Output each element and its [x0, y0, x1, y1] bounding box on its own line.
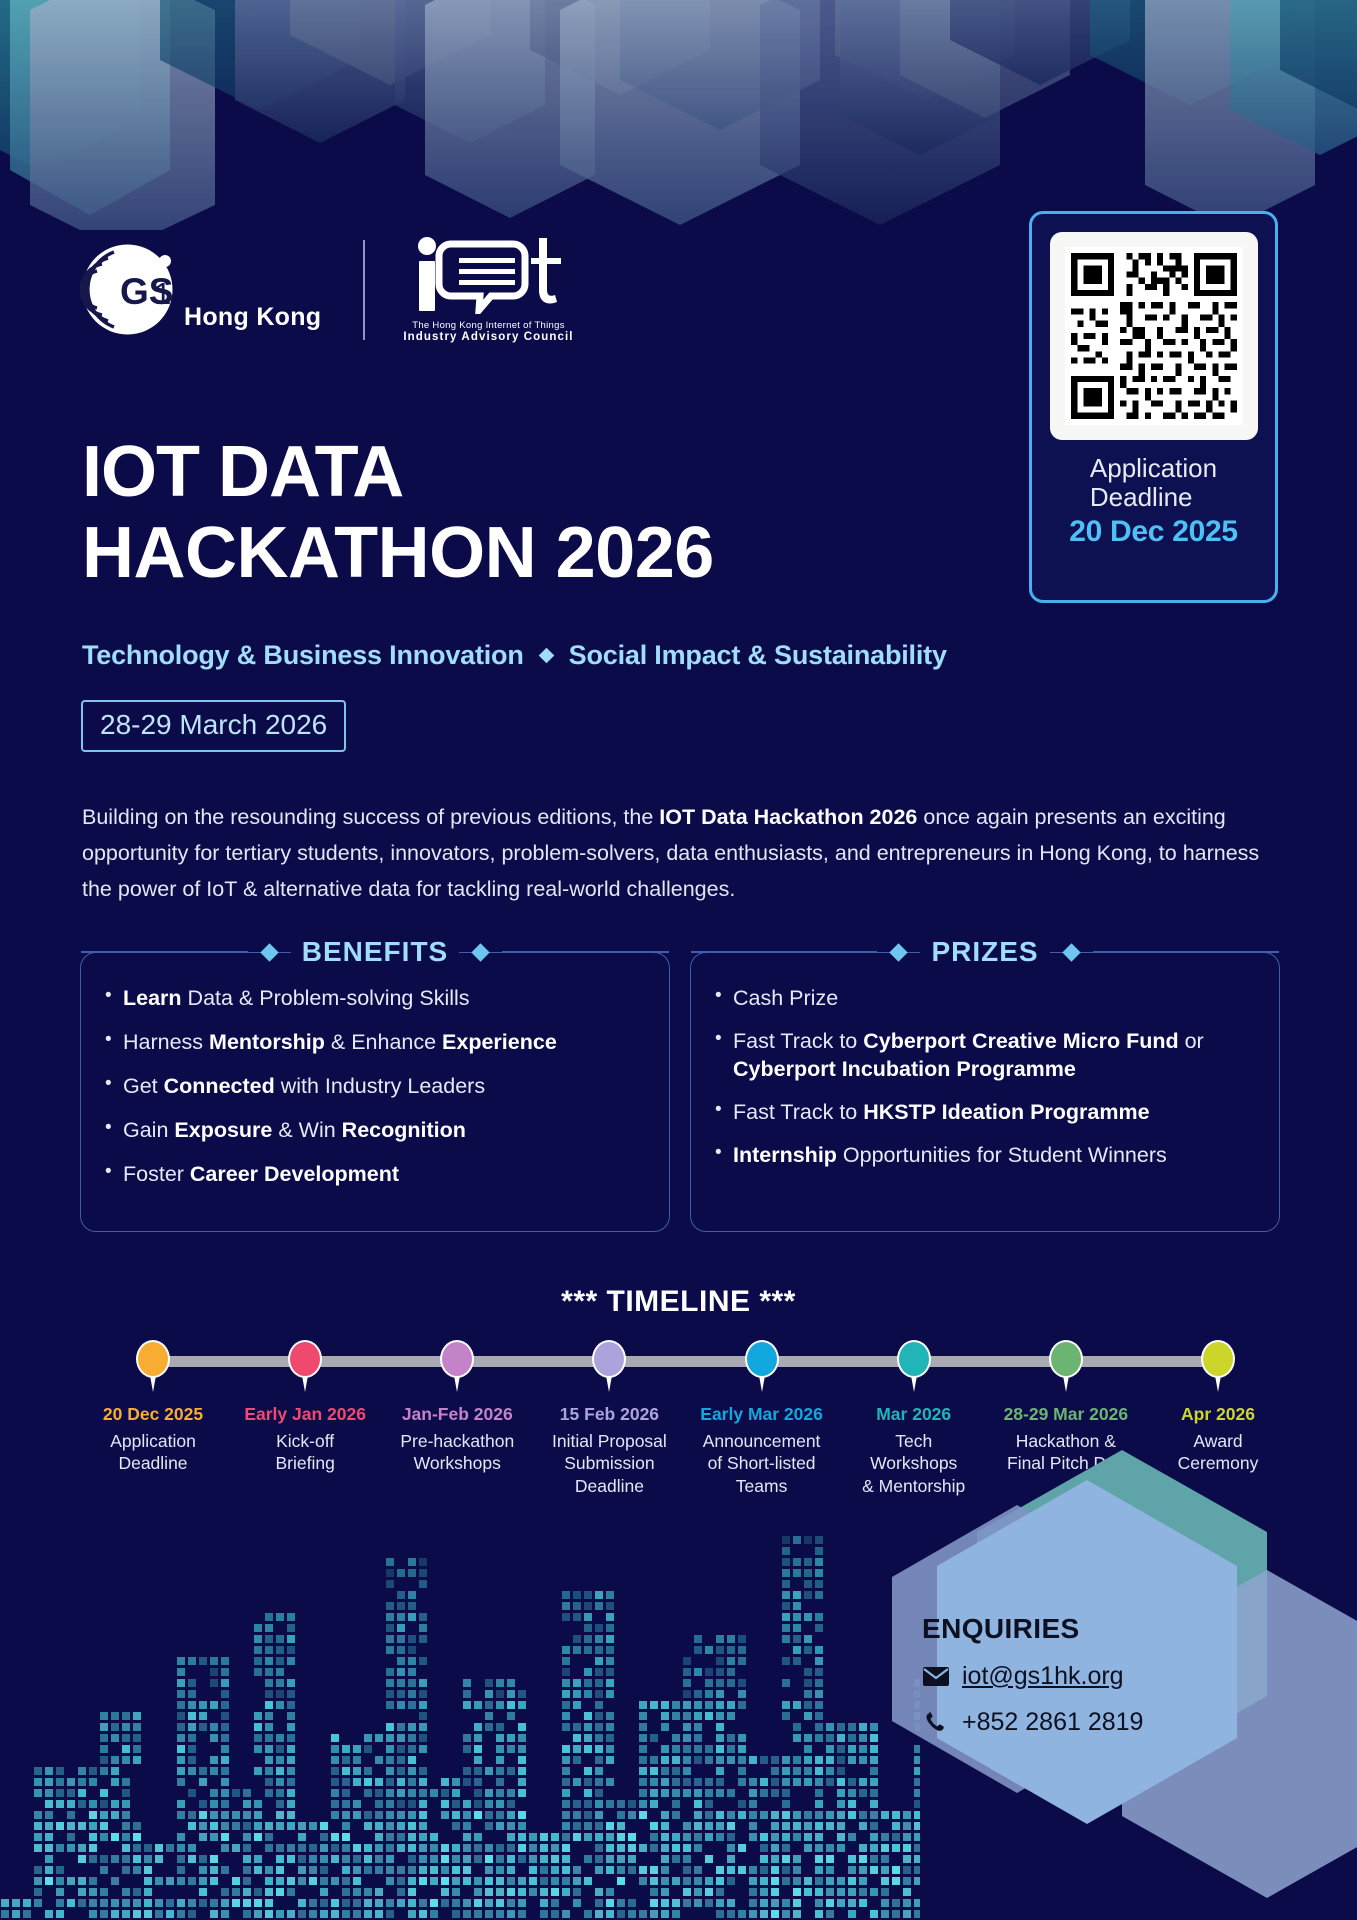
prizes-list: Cash Prize Fast Track to Cyberport Creat…: [715, 985, 1255, 1170]
title-line-1: IOT DATA: [82, 432, 714, 513]
qr-code-icon[interactable]: [1050, 232, 1258, 440]
timeline-milestone-date: Early Mar 2026: [687, 1404, 837, 1425]
list-item: Foster Career Development: [105, 1161, 645, 1189]
top-hex-background: [0, 0, 1357, 230]
diamond-icon-left: [890, 943, 908, 961]
enquiries-phone-row: +852 2861 2819: [922, 1708, 1202, 1737]
intro-part-1: Building on the resounding success of pr…: [82, 805, 659, 829]
timeline-milestone: Jan-Feb 2026Pre-hackathonWorkshops: [382, 1340, 532, 1475]
qr-deadline-date: 20 Dec 2025: [1069, 515, 1238, 549]
timeline-milestone-description: Announcementof Short-listedTeams: [687, 1430, 837, 1497]
timeline-milestone-description: Kick-offBriefing: [230, 1430, 380, 1475]
page-title: IOT DATA HACKATHON 2026: [82, 432, 714, 593]
subtitle-right: Social Impact & Sustainability: [569, 640, 947, 671]
timeline-milestone-date: Jan-Feb 2026: [382, 1404, 532, 1425]
timeline-pin-icon: [288, 1340, 322, 1392]
timeline-milestone-date: 28-29 Mar 2026: [991, 1404, 1141, 1425]
title-line-2: HACKATHON 2026: [82, 513, 714, 594]
timeline-milestone: 20 Dec 2025ApplicationDeadline: [78, 1340, 228, 1475]
subtitle: Technology & Business Innovation Social …: [82, 640, 947, 671]
event-date-badge: 28-29 March 2026: [81, 700, 346, 752]
list-item: Learn Data & Problem-solving Skills: [105, 985, 645, 1013]
timeline-milestone: 15 Feb 2026Initial ProposalSubmissionDea…: [534, 1340, 684, 1497]
timeline-milestone-description: Pre-hackathonWorkshops: [382, 1430, 532, 1475]
timeline-pin-icon: [897, 1340, 931, 1392]
iot-logo-sub1: The Hong Kong Internet of Things: [412, 320, 565, 331]
city-skyline-graphic: [0, 1500, 920, 1920]
qr-deadline-label-line1: Application: [1090, 454, 1217, 483]
list-item: Internship Opportunities for Student Win…: [715, 1142, 1255, 1170]
list-item: Gain Exposure & Win Recognition: [105, 1117, 645, 1145]
prizes-heading: PRIZES: [920, 936, 1049, 968]
enquiries-hexagons: ENQUIRIES iot@gs1hk.org +852 2861 2819: [837, 1450, 1357, 1920]
header-rule-left: [81, 951, 248, 953]
phone-icon: [922, 1711, 949, 1735]
prizes-card-header: PRIZES: [691, 936, 1279, 968]
logo-bar: GS 1 ® Hong Kong: [80, 236, 574, 343]
enquiries-email-link[interactable]: iot@gs1hk.org: [962, 1662, 1124, 1691]
subtitle-left: Technology & Business Innovation: [82, 640, 524, 671]
enquiries-block: ENQUIRIES iot@gs1hk.org +852 2861 2819: [922, 1613, 1202, 1737]
benefits-list: Learn Data & Problem-solving Skills Harn…: [105, 985, 645, 1189]
intro-bold-1: IOT Data Hackathon 2026: [659, 805, 917, 829]
timeline-milestone-description: ApplicationDeadline: [78, 1430, 228, 1475]
timeline-milestone-date: 20 Dec 2025: [78, 1404, 228, 1425]
diamond-separator-icon: [538, 648, 554, 664]
timeline-pin-icon: [136, 1340, 170, 1392]
iot-logo: The Hong Kong Internet of Things Industr…: [403, 236, 573, 343]
svg-text:®: ®: [161, 257, 169, 268]
svg-text:1: 1: [154, 276, 171, 311]
timeline-heading: *** TIMELINE ***: [0, 1285, 1357, 1319]
timeline-milestone-description: Initial ProposalSubmissionDeadline: [534, 1430, 684, 1497]
timeline-pin-icon: [440, 1340, 474, 1392]
timeline-pin-icon: [1201, 1340, 1235, 1392]
timeline-milestone: Early Mar 2026Announcementof Short-liste…: [687, 1340, 837, 1497]
timeline-milestone-date: Apr 2026: [1143, 1404, 1293, 1425]
gs1-mark-icon: GS 1 ®: [80, 242, 175, 337]
enquiries-email-row[interactable]: iot@gs1hk.org: [922, 1662, 1202, 1691]
qr-deadline-panel[interactable]: Application Deadline 20 Dec 2025: [1029, 211, 1278, 603]
header-rule-right: [502, 951, 669, 953]
iot-mark-icon: [413, 236, 565, 319]
diamond-icon-left: [260, 943, 278, 961]
list-item: Fast Track to HKSTP Ideation Programme: [715, 1099, 1255, 1127]
header-rule-right: [1093, 951, 1279, 953]
header-rule-left: [691, 951, 877, 953]
list-item: Cash Prize: [715, 985, 1255, 1013]
timeline-milestone-date: 15 Feb 2026: [534, 1404, 684, 1425]
timeline-milestone: Early Jan 2026Kick-offBriefing: [230, 1340, 380, 1475]
benefits-card-header: BENEFITS: [81, 936, 669, 968]
list-item: Fast Track to Cyberport Creative Micro F…: [715, 1028, 1255, 1084]
enquiries-phone-number: +852 2861 2819: [962, 1708, 1143, 1737]
timeline-milestone-date: Early Jan 2026: [230, 1404, 380, 1425]
timeline-pin-icon: [1049, 1340, 1083, 1392]
timeline-pin-icon: [592, 1340, 626, 1392]
gs1-logo: GS 1 ® Hong Kong: [80, 242, 321, 337]
list-item: Get Connected with Industry Leaders: [105, 1073, 645, 1101]
enquiries-heading: ENQUIRIES: [922, 1613, 1202, 1645]
envelope-icon: [922, 1667, 949, 1686]
intro-paragraph: Building on the resounding success of pr…: [82, 800, 1282, 908]
timeline-milestone-date: Mar 2026: [839, 1404, 989, 1425]
prizes-card: PRIZES Cash Prize Fast Track to Cyberpor…: [690, 952, 1280, 1232]
diamond-icon-right: [472, 943, 490, 961]
poster-root: GS 1 ® Hong Kong: [0, 0, 1357, 1920]
logo-divider: [363, 240, 365, 340]
iot-logo-sub2: Industry Advisory Council: [403, 331, 573, 343]
diamond-icon-right: [1062, 943, 1080, 961]
benefits-heading: BENEFITS: [291, 936, 459, 968]
qr-deadline-label-line2: Deadline: [1090, 483, 1217, 512]
benefits-card: BENEFITS Learn Data & Problem-solving Sk…: [80, 952, 670, 1232]
list-item: Harness Mentorship & Enhance Experience: [105, 1029, 645, 1057]
gs1-logo-label: Hong Kong: [184, 303, 321, 332]
timeline-pin-icon: [745, 1340, 779, 1392]
